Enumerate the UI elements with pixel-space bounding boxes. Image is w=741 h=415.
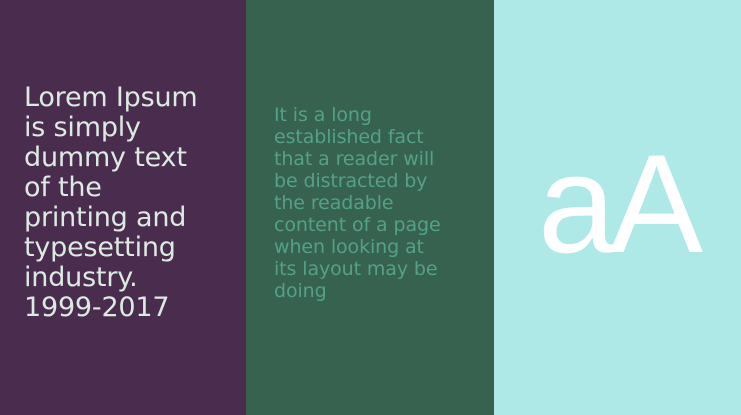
headline-line: industry.	[24, 263, 246, 293]
type-specimen-panel: aA	[494, 0, 741, 415]
body-text-block: It is a long established fact that a rea…	[274, 104, 489, 302]
headline-line: is simply	[24, 113, 246, 143]
slide-canvas: Lorem Ipsum is simply dummy text of the …	[0, 0, 741, 415]
type-specimen-glyphs: aA	[538, 134, 697, 274]
body-line: be distracted by	[274, 170, 489, 192]
headline-line: printing and	[24, 203, 246, 233]
body-line: when looking at	[274, 236, 489, 258]
body-line: its layout may be	[274, 258, 489, 280]
headline-line: of the	[24, 173, 246, 203]
headline-line: dummy text	[24, 143, 246, 173]
body-line: It is a long	[274, 104, 489, 126]
type-specimen-block: aA	[494, 0, 741, 415]
headline-year-range: 1999-2017	[24, 293, 246, 323]
headline-text-block: Lorem Ipsum is simply dummy text of the …	[24, 83, 246, 323]
headline-panel: Lorem Ipsum is simply dummy text of the …	[0, 0, 246, 415]
body-line: content of a page	[274, 214, 489, 236]
body-line: the readable	[274, 192, 489, 214]
headline-line: Lorem Ipsum	[24, 83, 246, 113]
headline-line: typesetting	[24, 233, 246, 263]
body-line: doing	[274, 280, 489, 302]
body-panel: It is a long established fact that a rea…	[246, 0, 494, 415]
body-line: that a reader will	[274, 148, 489, 170]
body-line: established fact	[274, 126, 489, 148]
